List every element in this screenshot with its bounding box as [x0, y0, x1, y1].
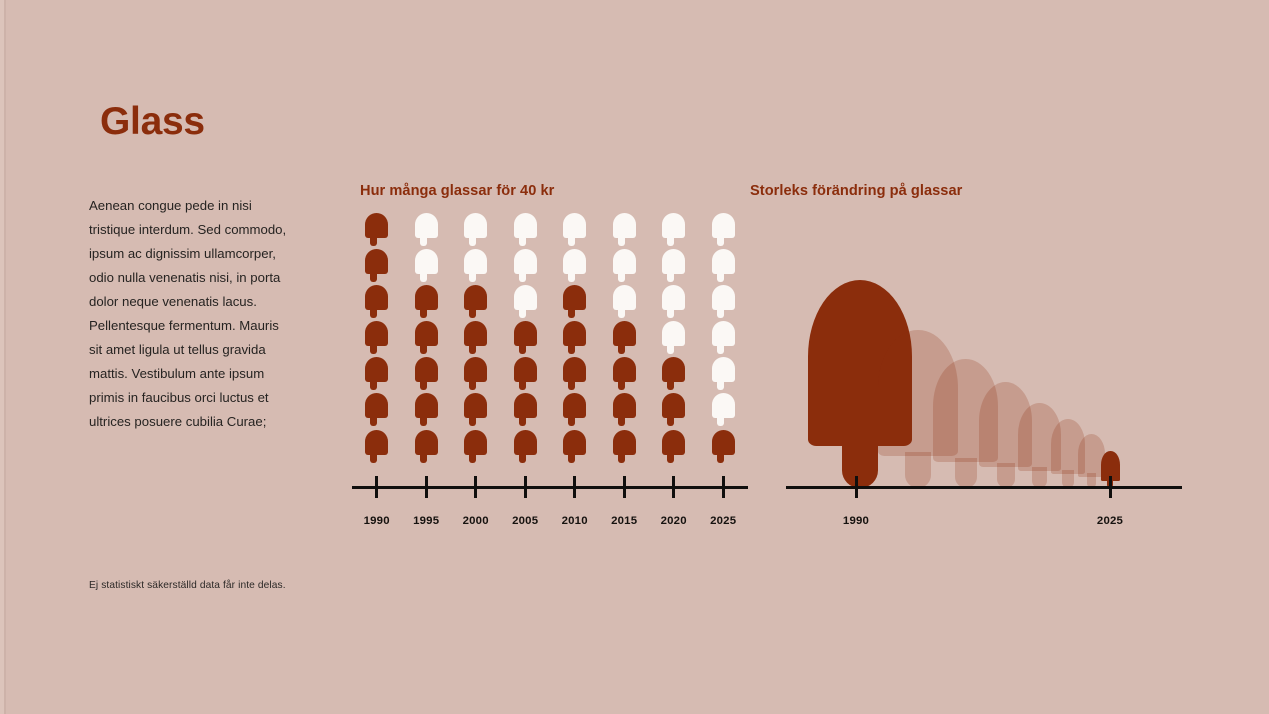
popsicle-head [613, 393, 636, 418]
popsicle-stick [667, 236, 674, 246]
popsicle-icon [712, 430, 735, 463]
popsicle-head [415, 249, 438, 274]
pictogram-cell [550, 430, 600, 466]
pictogram-cell [600, 357, 650, 393]
pictogram-cell [451, 249, 501, 285]
popsicle-head [415, 430, 438, 455]
left-edge-strip [0, 0, 9, 714]
popsicle-head [662, 430, 685, 455]
popsicle-stick [469, 453, 476, 463]
popsicle-icon [415, 393, 438, 426]
popsicle-head [712, 321, 735, 346]
pictogram-cell [402, 393, 452, 429]
axis-tick [623, 476, 626, 498]
popsicle-stick [667, 416, 674, 426]
popsicle-head [662, 285, 685, 310]
pictogram-cell [451, 213, 501, 249]
popsicle-stick [568, 236, 575, 246]
popsicle-icon [563, 430, 586, 463]
pictogram-chart [352, 213, 752, 538]
popsicle-icon [365, 357, 388, 390]
popsicle-head [563, 357, 586, 382]
popsicle-head [662, 393, 685, 418]
pictogram-cell [451, 357, 501, 393]
axis-tick-label: 2020 [661, 515, 687, 527]
pictogram-cell [501, 249, 551, 285]
pictogram-cell [402, 357, 452, 393]
popsicle-stick [420, 453, 427, 463]
popsicle-icon [563, 285, 586, 318]
popsicle-head [365, 285, 388, 310]
pictogram-cell [501, 357, 551, 393]
popsicle-icon [563, 249, 586, 282]
axis-line-right [786, 486, 1182, 489]
axis-tick-label: 1995 [413, 515, 439, 527]
popsicle-head [464, 393, 487, 418]
pictogram-cell [352, 249, 402, 285]
pictogram-cell [600, 321, 650, 357]
popsicle-icon [662, 249, 685, 282]
pictogram-cell [600, 213, 650, 249]
popsicle-icon [415, 213, 438, 246]
popsicle-stick [370, 380, 377, 390]
popsicle-icon [365, 249, 388, 282]
popsicle-stick [370, 236, 377, 246]
popsicle-stick [568, 344, 575, 354]
popsicle-icon [464, 357, 487, 390]
pictogram-cell [649, 357, 699, 393]
pictogram-cell [600, 393, 650, 429]
pictogram-cell [649, 321, 699, 357]
popsicle-icon [514, 213, 537, 246]
popsicle-icon [563, 393, 586, 426]
pictogram-cell [600, 430, 650, 466]
popsicle-head [514, 393, 537, 418]
popsicle-head [613, 430, 636, 455]
pictogram-cell [501, 393, 551, 429]
popsicle-stick [370, 308, 377, 318]
popsicle-head [662, 357, 685, 382]
popsicle-stick [618, 380, 625, 390]
popsicle-icon [563, 321, 586, 354]
popsicle-stick [568, 272, 575, 282]
popsicle-head [514, 285, 537, 310]
popsicle-stick [717, 453, 724, 463]
popsicle-head [712, 249, 735, 274]
popsicle-head [514, 430, 537, 455]
pictogram-cell [451, 285, 501, 321]
popsicle-head [415, 357, 438, 382]
popsicle-stick [717, 236, 724, 246]
popsicle-icon [415, 321, 438, 354]
footnote-text: Ej statistiskt säkerställd data får inte… [89, 580, 286, 591]
popsicle-icon [712, 249, 735, 282]
popsicle-head [613, 357, 636, 382]
popsicle-head [712, 430, 735, 455]
pictogram-cell [699, 430, 749, 466]
popsicle-stick [667, 272, 674, 282]
popsicle-stick [469, 272, 476, 282]
popsicle-stick [618, 344, 625, 354]
popsicle-stick [370, 453, 377, 463]
popsicle-stick [519, 272, 526, 282]
popsicle-icon [365, 285, 388, 318]
popsicle-icon [613, 393, 636, 426]
popsicle-stick [717, 380, 724, 390]
popsicle-icon [563, 357, 586, 390]
pictogram-cell [352, 213, 402, 249]
popsicle-icon [613, 213, 636, 246]
popsicle-head [365, 357, 388, 382]
pictogram-cell [550, 249, 600, 285]
pictogram-column [352, 213, 402, 466]
popsicle-stick [420, 380, 427, 390]
popsicle-head [415, 321, 438, 346]
pictogram-cell [352, 321, 402, 357]
popsicle-icon [415, 357, 438, 390]
popsicle-head [662, 249, 685, 274]
popsicle-head [415, 393, 438, 418]
pictogram-grid [352, 213, 752, 466]
popsicle-stick [469, 380, 476, 390]
pictogram-cell [649, 393, 699, 429]
popsicle-head [712, 357, 735, 382]
popsicle-head [365, 430, 388, 455]
popsicle-icon [514, 357, 537, 390]
axis-tick-label: 1990 [364, 515, 390, 527]
pictogram-column [501, 213, 551, 466]
popsicle-stick [519, 453, 526, 463]
pictogram-cell [402, 285, 452, 321]
popsicle-head [613, 213, 636, 238]
popsicle-stick [905, 452, 932, 488]
axis-tick-label: 1990 [843, 515, 869, 527]
popsicle-icon [415, 285, 438, 318]
popsicle-stick [568, 380, 575, 390]
popsicle-icon [365, 430, 388, 463]
popsicle-head [613, 285, 636, 310]
pictogram-cell [699, 249, 749, 285]
popsicle-head [712, 213, 735, 238]
pictogram-cell [699, 213, 749, 249]
popsicle-stick [469, 344, 476, 354]
pictogram-column [600, 213, 650, 466]
popsicle-stick [618, 416, 625, 426]
popsicle-head [464, 321, 487, 346]
popsicle-head [415, 213, 438, 238]
popsicle-stick [469, 416, 476, 426]
popsicle-icon [712, 357, 735, 390]
pictogram-cell [402, 430, 452, 466]
popsicle-head [662, 321, 685, 346]
popsicle-icon [514, 430, 537, 463]
popsicle-stick [717, 344, 724, 354]
popsicle-icon [712, 393, 735, 426]
pictogram-column [649, 213, 699, 466]
popsicle-icon [514, 285, 537, 318]
popsicle-head [514, 357, 537, 382]
popsicle-icon [514, 393, 537, 426]
chart-title-size: Storleks förändring på glassar [750, 183, 962, 199]
pictogram-cell [600, 285, 650, 321]
axis-tick [573, 476, 576, 498]
popsicle-icon [464, 321, 487, 354]
pictogram-cell [501, 213, 551, 249]
pictogram-cell [352, 357, 402, 393]
pictogram-cell [402, 213, 452, 249]
popsicle-head [464, 430, 487, 455]
popsicle-stick [469, 308, 476, 318]
popsicle-stick [370, 272, 377, 282]
popsicle-icon [365, 393, 388, 426]
popsicle-icon [365, 213, 388, 246]
pictogram-cell [550, 285, 600, 321]
pictogram-cell [402, 249, 452, 285]
pictogram-cell [402, 321, 452, 357]
popsicle-icon [712, 321, 735, 354]
popsicle-stick [469, 236, 476, 246]
popsicle-stick [519, 236, 526, 246]
popsicle-head [365, 213, 388, 238]
pictogram-column [550, 213, 600, 466]
slide-canvas: Glass Aenean congue pede in nisi tristiq… [0, 0, 1269, 714]
popsicle-stick [568, 308, 575, 318]
popsicle-stick [717, 416, 724, 426]
popsicle-icon [514, 249, 537, 282]
popsicle-stick [519, 344, 526, 354]
popsicle-stick [420, 416, 427, 426]
popsicle-head [365, 393, 388, 418]
popsicle-head [514, 249, 537, 274]
pictogram-cell [699, 357, 749, 393]
popsicle-stick [568, 453, 575, 463]
popsicle-head [464, 249, 487, 274]
axis-tick [1109, 476, 1112, 498]
popsicle-icon [464, 213, 487, 246]
popsicle-stick [955, 458, 977, 488]
popsicle-icon [662, 285, 685, 318]
axis-tick-label: 2000 [463, 515, 489, 527]
axis-tick [722, 476, 725, 498]
popsicle-icon [613, 249, 636, 282]
pictogram-cell [699, 393, 749, 429]
pictogram-cell [699, 321, 749, 357]
pictogram-cell [649, 249, 699, 285]
popsicle-head [365, 321, 388, 346]
popsicle-stick [618, 272, 625, 282]
popsicle-icon [563, 213, 586, 246]
axis-tick [672, 476, 675, 498]
popsicle-stick [420, 308, 427, 318]
popsicle-head [613, 249, 636, 274]
axis-tick [425, 476, 428, 498]
pictogram-cell [451, 321, 501, 357]
popsicle-stick [717, 308, 724, 318]
popsicle-stick [420, 272, 427, 282]
popsicle-head [464, 357, 487, 382]
pictogram-cell [501, 430, 551, 466]
popsicle-stick [370, 344, 377, 354]
pictogram-column [699, 213, 749, 466]
pictogram-cell [550, 321, 600, 357]
popsicle-stick [667, 344, 674, 354]
popsicle-icon [415, 430, 438, 463]
chart-title-pictogram: Hur många glassar för 40 kr [360, 183, 554, 199]
pictogram-cell [352, 430, 402, 466]
popsicle-head [415, 285, 438, 310]
axis-tick [375, 476, 378, 498]
popsicle-head [514, 321, 537, 346]
pictogram-cell [550, 213, 600, 249]
axis-tick [855, 476, 858, 498]
popsicle-icon [712, 213, 735, 246]
popsicle-head [712, 285, 735, 310]
page-title: Glass [100, 101, 205, 144]
popsicle-icon [613, 357, 636, 390]
popsicle-stick [370, 416, 377, 426]
popsicle-head [563, 393, 586, 418]
popsicle-icon [464, 430, 487, 463]
popsicle-head [712, 393, 735, 418]
pictogram-cell [600, 249, 650, 285]
popsicle-icon [464, 285, 487, 318]
popsicle-head [563, 430, 586, 455]
popsicle-icon [662, 213, 685, 246]
axis-tick [474, 476, 477, 498]
pictogram-column [402, 213, 452, 466]
popsicle-icon [464, 249, 487, 282]
popsicle-head [662, 213, 685, 238]
pictogram-cell [550, 357, 600, 393]
popsicle-stick [420, 344, 427, 354]
pictogram-cell [451, 393, 501, 429]
popsicle-icon [662, 430, 685, 463]
pictogram-column [451, 213, 501, 466]
popsicle-head [563, 213, 586, 238]
popsicle-head [563, 249, 586, 274]
axis-tick-label: 2010 [562, 515, 588, 527]
popsicle-icon [514, 321, 537, 354]
popsicle-head [464, 213, 487, 238]
popsicle-icon [415, 249, 438, 282]
popsicle-head [514, 213, 537, 238]
pictogram-cell [501, 321, 551, 357]
pictogram-cell [451, 430, 501, 466]
popsicle-icon [613, 321, 636, 354]
axis-tick-label: 2005 [512, 515, 538, 527]
axis-tick-label: 2025 [1097, 515, 1123, 527]
pictogram-cell [649, 285, 699, 321]
popsicle-stick [717, 272, 724, 282]
popsicle-stick [667, 380, 674, 390]
popsicle-stick [997, 463, 1015, 488]
popsicle-stick [519, 380, 526, 390]
popsicle-head [365, 249, 388, 274]
popsicle-icon [613, 430, 636, 463]
popsicle-icon [662, 321, 685, 354]
popsicle-icon [613, 285, 636, 318]
popsicle-stick [618, 236, 625, 246]
popsicle-icon [464, 393, 487, 426]
popsicle-stick [1032, 467, 1046, 488]
axis-tick-label: 2025 [710, 515, 736, 527]
pictogram-cell [501, 285, 551, 321]
popsicle-head [613, 321, 636, 346]
popsicle-stick [519, 416, 526, 426]
popsicle-icon [662, 357, 685, 390]
popsicle-stick [519, 308, 526, 318]
size-chart [786, 240, 1186, 488]
popsicle-stick [568, 416, 575, 426]
popsicle-stick [667, 453, 674, 463]
popsicle-head [464, 285, 487, 310]
pictogram-cell [649, 430, 699, 466]
popsicle-stick [618, 453, 625, 463]
pictogram-cell [352, 393, 402, 429]
popsicle-stick [667, 308, 674, 318]
popsicle-icon [662, 393, 685, 426]
pictogram-cell [699, 285, 749, 321]
pictogram-cell [550, 393, 600, 429]
pictogram-cell [649, 213, 699, 249]
pictogram-cell [352, 285, 402, 321]
popsicle-head [563, 321, 586, 346]
axis-tick-label: 2015 [611, 515, 637, 527]
popsicle-icon [712, 285, 735, 318]
popsicle-stick [420, 236, 427, 246]
body-paragraph: Aenean congue pede in nisi tristique int… [89, 194, 289, 434]
popsicle-stick [842, 442, 877, 488]
axis-tick [524, 476, 527, 498]
popsicle-stick [618, 308, 625, 318]
popsicle-icon [365, 321, 388, 354]
popsicle-head [563, 285, 586, 310]
axis-line-left [352, 486, 748, 489]
